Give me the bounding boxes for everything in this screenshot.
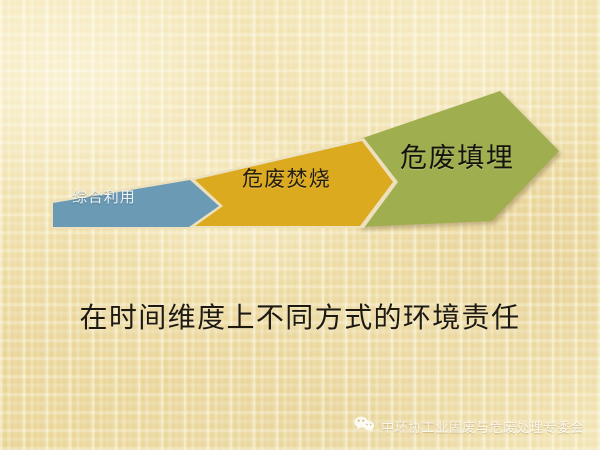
chevron-landfill[interactable]: [357, 91, 559, 227]
watermark-text: 中环协工业固废与危废处理专委会: [381, 417, 584, 436]
wechat-icon: [353, 415, 375, 438]
chevron-process-diagram: [0, 0, 600, 300]
footer-watermark: 中环协工业固废与危废处理专委会: [353, 415, 584, 438]
chevron-incineration[interactable]: [190, 141, 393, 226]
slide-caption: 在时间维度上不同方式的环境责任: [0, 296, 600, 336]
slide-canvas: 综合利用 危废焚烧 危废填埋 在时间维度上不同方式的环境责任 中环协工业固废与危…: [0, 0, 600, 450]
